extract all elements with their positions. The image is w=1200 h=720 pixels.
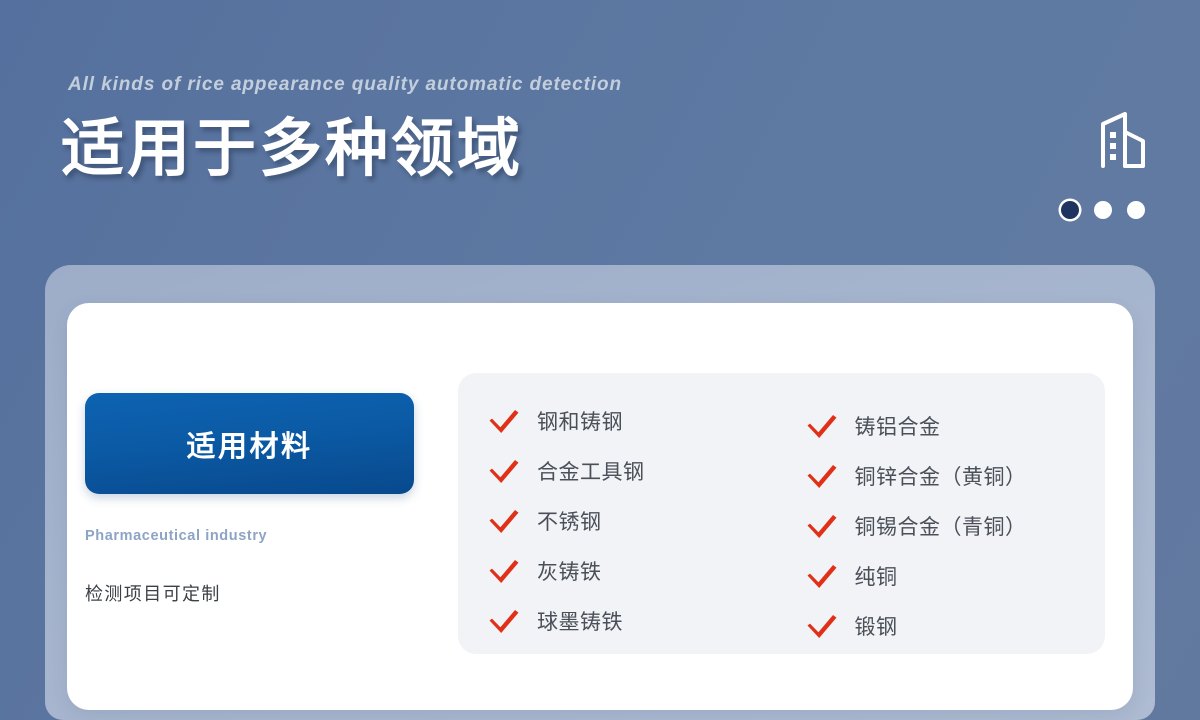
material-item: 合金工具钢: [488, 446, 788, 496]
material-item: 钢和铸钢: [488, 396, 788, 446]
page-title: 适用于多种领域: [61, 116, 523, 182]
material-label: 铜锌合金（黄铜）: [855, 461, 1027, 491]
left-panel: 适用材料 Pharmaceutical industry 检测项目可定制: [85, 393, 425, 606]
applicable-material-button[interactable]: 适用材料: [85, 393, 414, 494]
material-label: 钢和铸钢: [537, 406, 623, 436]
material-item: 锻钢: [806, 601, 1106, 651]
check-icon: [488, 557, 520, 585]
material-item: 不锈钢: [488, 496, 788, 546]
check-icon: [806, 412, 838, 440]
material-item: 铸铝合金: [806, 401, 1106, 451]
hero-banner: All kinds of rice appearance quality aut…: [0, 0, 1200, 265]
material-item: 灰铸铁: [488, 546, 788, 596]
material-item: 球墨铸铁: [488, 596, 788, 646]
check-icon: [806, 462, 838, 490]
hero-subtitle: All kinds of rice appearance quality aut…: [68, 74, 622, 96]
carousel-dot-1[interactable]: [1061, 201, 1079, 219]
check-icon: [806, 562, 838, 590]
material-item: 铜锌合金（黄铜）: [806, 451, 1106, 501]
check-icon: [488, 607, 520, 635]
material-item: 纯铜: [806, 551, 1106, 601]
material-label: 铸铝合金: [855, 411, 941, 441]
material-label: 锻钢: [855, 611, 898, 641]
industry-eyebrow-label: Pharmaceutical industry: [85, 528, 425, 544]
material-label: 纯铜: [855, 561, 898, 591]
customizable-note: 检测项目可定制: [85, 580, 425, 606]
carousel-dot-2[interactable]: [1094, 201, 1112, 219]
carousel-dots: [1061, 201, 1145, 219]
check-icon: [488, 457, 520, 485]
check-icon: [806, 612, 838, 640]
material-item: 铜锡合金（青铜）: [806, 501, 1106, 551]
material-label: 灰铸铁: [537, 556, 602, 586]
materials-column-right: 铸铝合金铜锌合金（黄铜）铜锡合金（青铜）纯铜锻钢: [788, 373, 1106, 654]
check-icon: [488, 507, 520, 535]
check-icon: [806, 512, 838, 540]
material-label: 合金工具钢: [537, 456, 645, 486]
carousel-dot-3[interactable]: [1127, 201, 1145, 219]
check-icon: [488, 407, 520, 435]
material-label: 不锈钢: [537, 506, 602, 536]
materials-panel: 钢和铸钢合金工具钢不锈钢灰铸铁球墨铸铁 铸铝合金铜锌合金（黄铜）铜锡合金（青铜）…: [458, 373, 1105, 654]
material-label: 球墨铸铁: [537, 606, 623, 636]
material-label: 铜锡合金（青铜）: [855, 511, 1027, 541]
building-icon: [1091, 108, 1155, 172]
materials-column-left: 钢和铸钢合金工具钢不锈钢灰铸铁球墨铸铁: [458, 373, 788, 654]
